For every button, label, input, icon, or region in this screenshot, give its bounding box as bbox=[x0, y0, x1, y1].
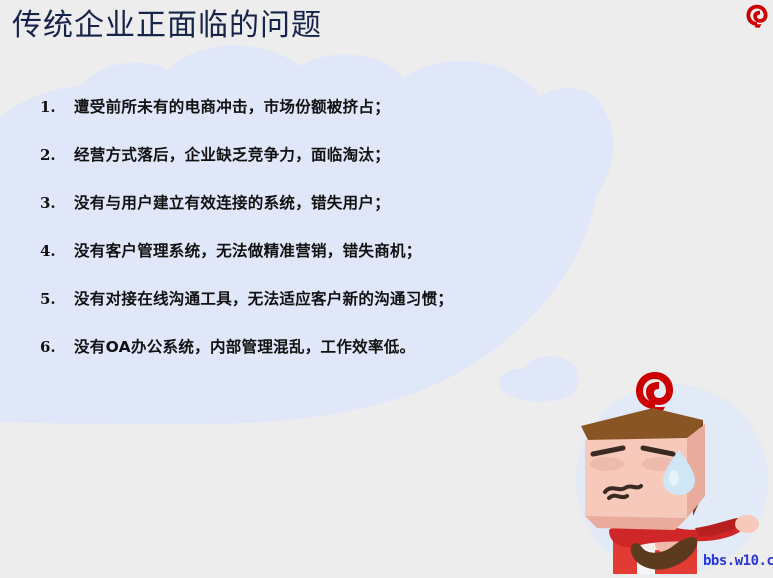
mascot-hand bbox=[735, 515, 759, 533]
list-item-label: 没有客户管理系统，无法做精准营销，错失商机； bbox=[74, 240, 422, 262]
list-item: 1. 遭受前所未有的电商冲击，市场份额被挤占； bbox=[40, 96, 560, 144]
worried-box-head-mascot-illustration bbox=[575, 368, 773, 578]
list-item-number: 3. bbox=[40, 192, 74, 214]
list-item-label: 没有OA办公系统，内部管理混乱，工作效率低。 bbox=[74, 336, 415, 358]
list-item-label: 没有对接在线沟通工具，无法适应客户新的沟通习惯； bbox=[74, 288, 453, 310]
list-item-number: 1. bbox=[40, 96, 74, 118]
list-item-number: 4. bbox=[40, 240, 74, 262]
list-item-label: 没有与用户建立有效连接的系统，错失用户； bbox=[74, 192, 390, 214]
list-item: 3. 没有与用户建立有效连接的系统，错失用户； bbox=[40, 192, 560, 240]
list-item-number: 6. bbox=[40, 336, 74, 358]
red-swirl-logo-icon bbox=[745, 4, 769, 28]
page-title: 传统企业正面临的问题 bbox=[12, 4, 322, 48]
list-item-label: 经营方式落后，企业缺乏竞争力，面临淘汰； bbox=[74, 144, 390, 166]
list-item-label: 遭受前所未有的电商冲击，市场份额被挤占； bbox=[74, 96, 390, 118]
list-item: 4. 没有客户管理系统，无法做精准营销，错失商机； bbox=[40, 240, 560, 288]
watermark-text: bbs.w10.cn bbox=[703, 553, 773, 569]
list-item: 6. 没有OA办公系统，内部管理混乱，工作效率低。 bbox=[40, 336, 560, 384]
list-item: 5. 没有对接在线沟通工具，无法适应客户新的沟通习惯； bbox=[40, 288, 560, 336]
list-item: 2. 经营方式落后，企业缺乏竞争力，面临淘汰； bbox=[40, 144, 560, 192]
problem-list: 1. 遭受前所未有的电商冲击，市场份额被挤占； 2. 经营方式落后，企业缺乏竞争… bbox=[40, 96, 560, 384]
list-item-number: 5. bbox=[40, 288, 74, 310]
slide-canvas: 传统企业正面临的问题 1. 遭受前所未有的电商冲击，市场份额被挤占； 2. 经营… bbox=[0, 0, 773, 578]
list-item-number: 2. bbox=[40, 144, 74, 166]
